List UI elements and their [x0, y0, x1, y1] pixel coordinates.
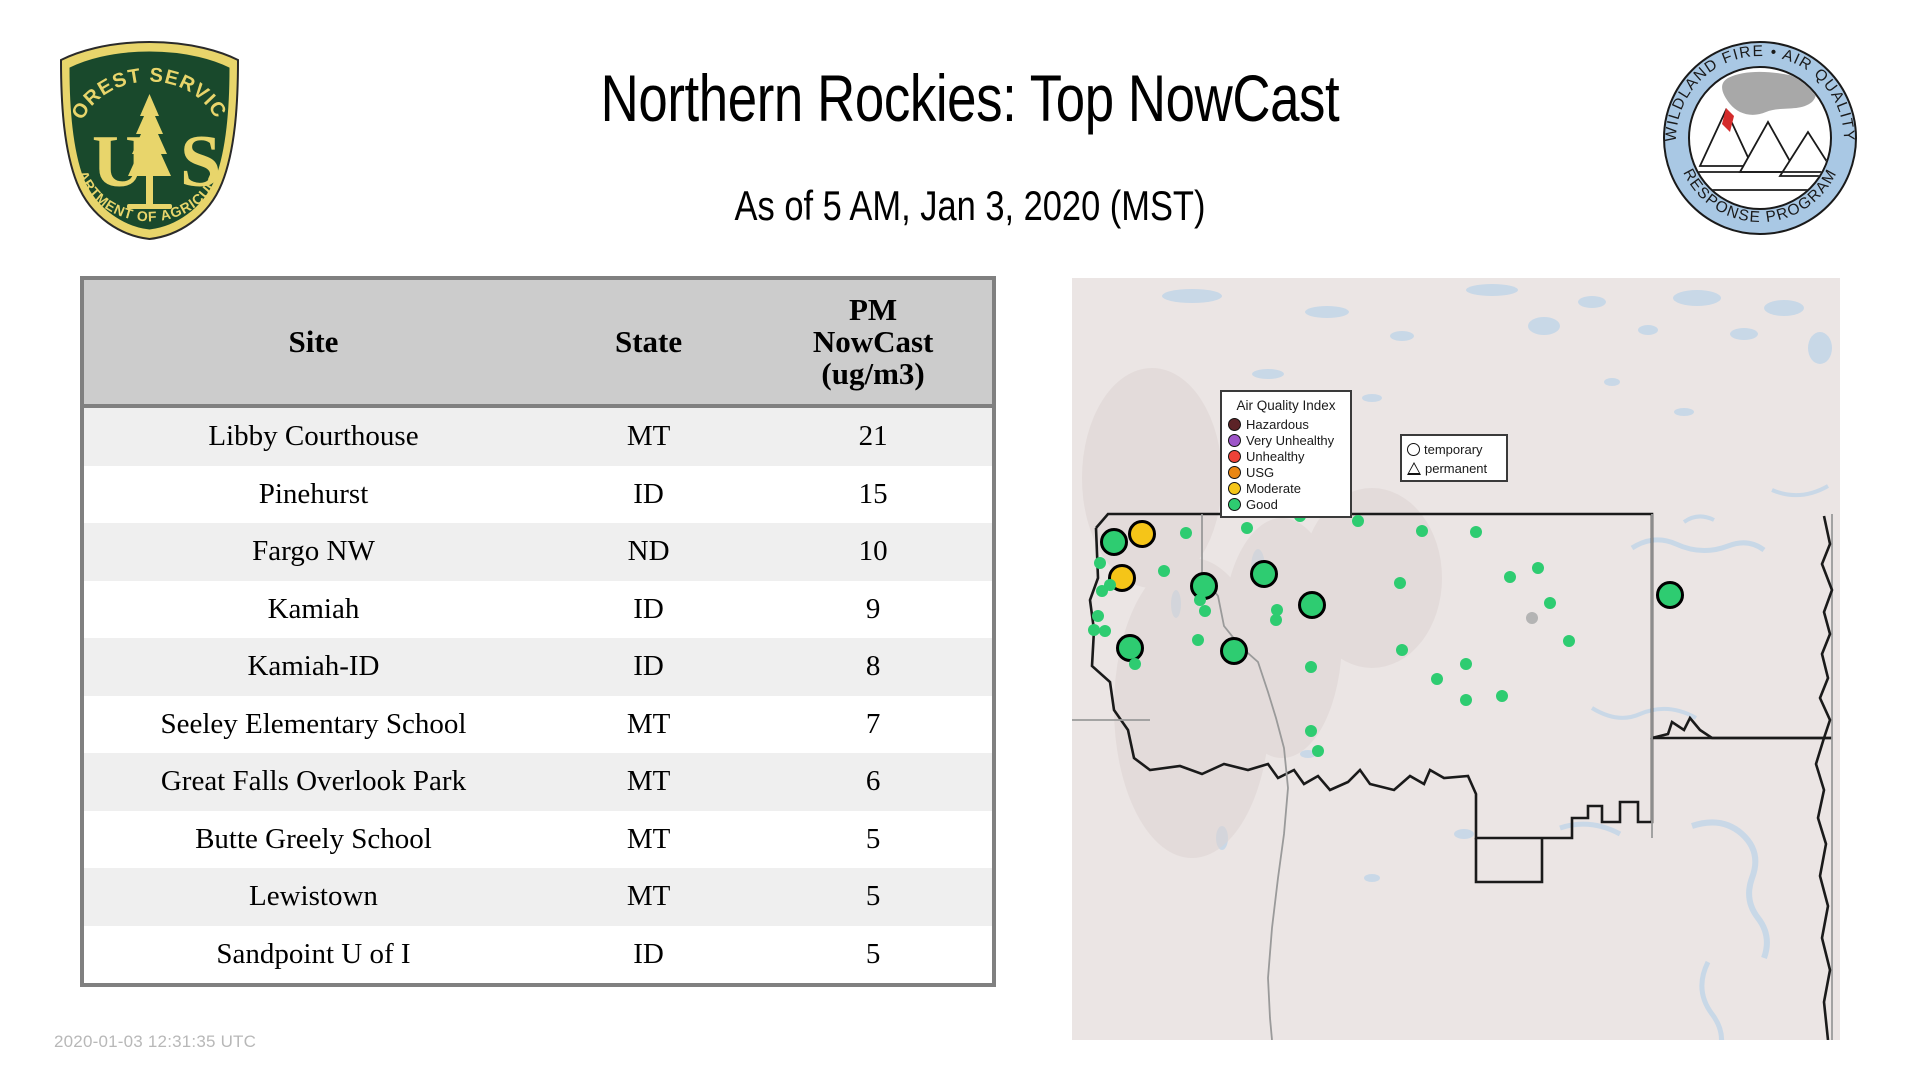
table-cell-state: ID	[543, 581, 754, 639]
table-cell-pm: 6	[754, 753, 992, 811]
map-monitor-marker[interactable]	[1220, 637, 1248, 665]
page-subtitle: As of 5 AM, Jan 3, 2020 (MST)	[421, 182, 1520, 230]
map-monitor-dot[interactable]	[1305, 661, 1317, 673]
table-cell-state: ID	[543, 926, 754, 984]
table-cell-state: MT	[543, 696, 754, 754]
table-cell-state: MT	[543, 868, 754, 926]
page-title: Northern Rockies: Top NowCast	[434, 60, 1506, 136]
table-cell-site: Seeley Elementary School	[84, 696, 543, 754]
table-row: Kamiah-IDID8	[84, 638, 992, 696]
table-cell-state: MT	[543, 811, 754, 869]
legend-label-temporary: temporary	[1424, 442, 1483, 457]
map-monitor-dot[interactable]	[1526, 612, 1538, 624]
legend-item: USG	[1228, 464, 1344, 480]
monitor-type-legend: temporary permanent	[1400, 434, 1508, 482]
map-monitor-dot[interactable]	[1416, 525, 1428, 537]
footer-timestamp: 2020-01-03 12:31:35 UTC	[54, 1032, 256, 1052]
legend-item-label: Moderate	[1246, 481, 1301, 496]
map-monitor-dot[interactable]	[1470, 526, 1482, 538]
table-cell-pm: 9	[754, 581, 992, 639]
map-monitor-marker[interactable]	[1116, 634, 1144, 662]
table-row: Seeley Elementary SchoolMT7	[84, 696, 992, 754]
table-cell-site: Fargo NW	[84, 523, 543, 581]
map-monitor-dot[interactable]	[1241, 522, 1253, 534]
legend-rows: HazardousVery UnhealthyUnhealthyUSGModer…	[1228, 416, 1344, 512]
table-header: Site State PM NowCast (ug/m3)	[84, 280, 992, 406]
map-monitor-dot[interactable]	[1394, 577, 1406, 589]
map-monitor-marker[interactable]	[1656, 581, 1684, 609]
legend-color-swatch-icon	[1228, 418, 1241, 431]
legend-label-permanent: permanent	[1425, 461, 1487, 476]
wildland-fire-air-quality-logo: WILDLAND FIRE • AIR QUALITY RESPONSE PRO…	[1660, 38, 1860, 238]
table-cell-pm: 5	[754, 926, 992, 984]
table-cell-site: Butte Greely School	[84, 811, 543, 869]
map-monitor-dot[interactable]	[1129, 658, 1141, 670]
table-row: KamiahID9	[84, 581, 992, 639]
table-row: Libby CourthouseMT21	[84, 406, 992, 466]
table-cell-state: ND	[543, 523, 754, 581]
table-row: Butte Greely SchoolMT5	[84, 811, 992, 869]
table-cell-state: ID	[543, 638, 754, 696]
map-monitor-dot[interactable]	[1460, 658, 1472, 670]
map-monitor-dot[interactable]	[1192, 634, 1204, 646]
map-monitor-dot[interactable]	[1180, 527, 1192, 539]
air-quality-map[interactable]: Air Quality Index HazardousVery Unhealth…	[1072, 278, 1840, 1040]
map-monitor-marker[interactable]	[1128, 520, 1156, 548]
legend-item-label: Good	[1246, 497, 1278, 512]
table-cell-state: ID	[543, 466, 754, 524]
table-cell-state: MT	[543, 406, 754, 466]
map-monitor-dot[interactable]	[1544, 597, 1556, 609]
legend-title: Air Quality Index	[1228, 398, 1344, 413]
nowcast-table-container: Site State PM NowCast (ug/m3) Libby Cour…	[80, 276, 996, 987]
legend-color-swatch-icon	[1228, 482, 1241, 495]
table-body: Libby CourthouseMT21PinehurstID15Fargo N…	[84, 406, 992, 983]
legend-item: Hazardous	[1228, 416, 1344, 432]
slide-root: FOREST SERVICE U S DEPARTMENT OF AGRICUL…	[0, 0, 1920, 1080]
legend-item-label: Unhealthy	[1246, 449, 1305, 464]
table-cell-site: Lewistown	[84, 868, 543, 926]
map-monitor-dot[interactable]	[1504, 571, 1516, 583]
legend-color-swatch-icon	[1228, 498, 1241, 511]
permanent-monitor-icon	[1407, 462, 1421, 475]
table-row: Fargo NWND10	[84, 523, 992, 581]
map-monitor-marker[interactable]	[1298, 591, 1326, 619]
map-monitor-dot[interactable]	[1099, 625, 1111, 637]
table-cell-site: Libby Courthouse	[84, 406, 543, 466]
legend-item: Moderate	[1228, 480, 1344, 496]
map-monitor-dot[interactable]	[1096, 585, 1108, 597]
legend-color-swatch-icon	[1228, 466, 1241, 479]
map-monitor-dot[interactable]	[1158, 565, 1170, 577]
table-cell-site: Kamiah	[84, 581, 543, 639]
table-cell-pm: 21	[754, 406, 992, 466]
column-header-site: Site	[84, 280, 543, 406]
map-monitor-dot[interactable]	[1396, 644, 1408, 656]
table-cell-pm: 10	[754, 523, 992, 581]
map-monitor-dot[interactable]	[1092, 610, 1104, 622]
table-row: LewistownMT5	[84, 868, 992, 926]
column-header-pm-line2: NowCast	[758, 326, 988, 358]
legend-item: Good	[1228, 496, 1344, 512]
map-monitor-dot[interactable]	[1563, 635, 1575, 647]
map-monitor-dot[interactable]	[1270, 614, 1282, 626]
table-cell-pm: 5	[754, 868, 992, 926]
column-header-pm-line1: PM	[758, 294, 988, 326]
table-cell-site: Pinehurst	[84, 466, 543, 524]
map-graphics	[1072, 278, 1840, 1040]
table-row: Great Falls Overlook ParkMT6	[84, 753, 992, 811]
legend-item-permanent: permanent	[1407, 459, 1501, 478]
table-cell-site: Great Falls Overlook Park	[84, 753, 543, 811]
map-monitor-dot[interactable]	[1532, 562, 1544, 574]
legend-item-label: USG	[1246, 465, 1274, 480]
table-cell-pm: 8	[754, 638, 992, 696]
map-monitor-dot[interactable]	[1496, 690, 1508, 702]
legend-item-temporary: temporary	[1407, 440, 1501, 459]
legend-item-label: Very Unhealthy	[1246, 433, 1334, 448]
table-row: PinehurstID15	[84, 466, 992, 524]
table-cell-pm: 15	[754, 466, 992, 524]
temporary-monitor-icon	[1407, 443, 1420, 456]
legend-item: Very Unhealthy	[1228, 432, 1344, 448]
map-monitor-dot[interactable]	[1312, 745, 1324, 757]
table-cell-pm: 7	[754, 696, 992, 754]
table-cell-site: Sandpoint U of I	[84, 926, 543, 984]
column-header-pm-nowcast: PM NowCast (ug/m3)	[754, 280, 992, 406]
table-cell-state: MT	[543, 753, 754, 811]
table-cell-pm: 5	[754, 811, 992, 869]
map-monitor-dot[interactable]	[1431, 673, 1443, 685]
table-cell-site: Kamiah-ID	[84, 638, 543, 696]
legend-color-swatch-icon	[1228, 434, 1241, 447]
map-monitor-marker[interactable]	[1100, 528, 1128, 556]
map-monitor-marker[interactable]	[1250, 560, 1278, 588]
legend-item: Unhealthy	[1228, 448, 1344, 464]
column-header-pm-line3: (ug/m3)	[758, 358, 988, 390]
legend-color-swatch-icon	[1228, 450, 1241, 463]
column-header-state: State	[543, 280, 754, 406]
map-monitor-dot[interactable]	[1460, 694, 1472, 706]
map-monitor-dot[interactable]	[1305, 725, 1317, 737]
air-quality-index-legend: Air Quality Index HazardousVery Unhealth…	[1220, 390, 1352, 518]
map-monitor-dot[interactable]	[1352, 515, 1364, 527]
map-monitor-dot[interactable]	[1199, 605, 1211, 617]
nowcast-table: Site State PM NowCast (ug/m3) Libby Cour…	[84, 280, 992, 983]
map-monitor-dot[interactable]	[1094, 557, 1106, 569]
us-forest-service-logo: FOREST SERVICE U S DEPARTMENT OF AGRICUL…	[52, 38, 247, 243]
table-row: Sandpoint U of IID5	[84, 926, 992, 984]
legend-item-label: Hazardous	[1246, 417, 1309, 432]
